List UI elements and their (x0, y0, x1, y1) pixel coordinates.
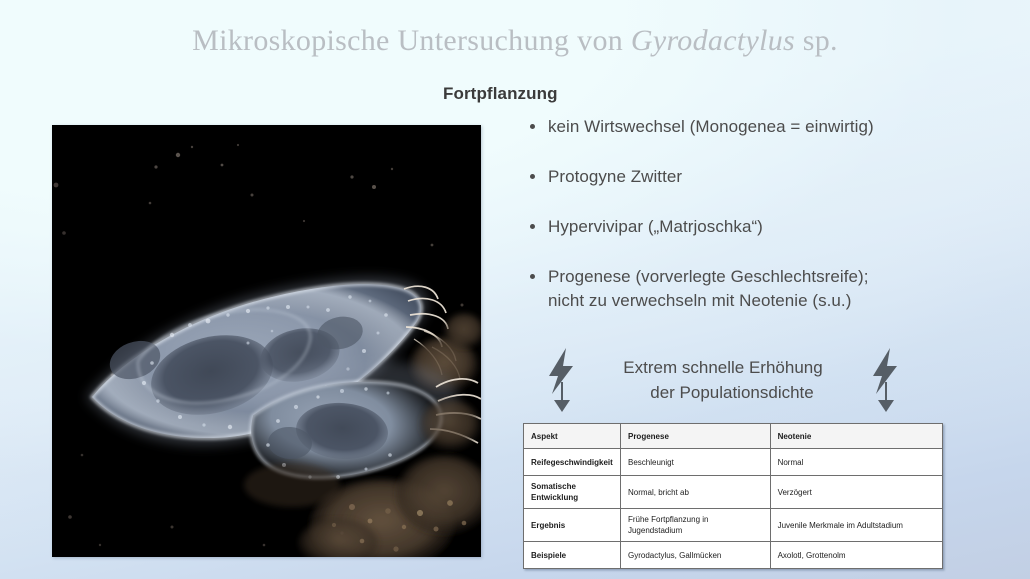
list-item-label: kein Wirtswechsel (Monogenea = einwirtig… (548, 117, 874, 136)
bullet-dot-icon (530, 224, 535, 229)
cell-neotenie: Axolotl, Grottenolm (770, 542, 942, 569)
row-label: Beispiele (524, 542, 621, 569)
column-header-aspekt: Aspekt (524, 424, 621, 449)
cell-progenese: Frühe Fortpflanzung in Jugendstadium (620, 509, 770, 542)
table-row: Somatische Entwicklung Normal, bricht ab… (524, 476, 943, 509)
title-species-name: Gyrodactylus (631, 24, 795, 57)
table-row: Beispiele Gyrodactylus, Gallmücken Axolo… (524, 542, 943, 569)
cell-neotenie: Normal (770, 449, 942, 476)
lightning-bolt-down-arrow-icon (543, 346, 579, 414)
table-header-row: Aspekt Progenese Neotenie (524, 424, 943, 449)
lightning-bolt-down-arrow-icon (867, 346, 903, 414)
emphasis-line-2: der Populationsdichte (581, 380, 865, 405)
list-item-label: Protogyne Zwitter (548, 167, 682, 186)
cell-neotenie: Juvenile Merkmale im Adultstadium (770, 509, 942, 542)
microscopy-figure (52, 125, 481, 557)
list-item-label: Hypervivipar („Matrjoschka“) (548, 217, 763, 236)
cell-progenese: Beschleunigt (620, 449, 770, 476)
row-label: Ergebnis (524, 509, 621, 542)
emphasis-line-1: Extrem schnelle Erhöhung (581, 355, 865, 380)
reproduction-bullet-list: kein Wirtswechsel (Monogenea = einwirtig… (524, 115, 1024, 313)
cell-neotenie: Verzögert (770, 476, 942, 509)
cell-progenese: Normal, bricht ab (620, 476, 770, 509)
row-label: Reifegeschwindigkeit (524, 449, 621, 476)
column-header-progenese: Progenese (620, 424, 770, 449)
slide-root: Mikroskopische Untersuchung von Gyrodact… (0, 0, 1030, 579)
page-title: Mikroskopische Untersuchung von Gyrodact… (0, 24, 1030, 58)
list-item: Hypervivipar („Matrjoschka“) (524, 215, 1024, 239)
cell-progenese: Gyrodactylus, Gallmücken (620, 542, 770, 569)
table-row: Reifegeschwindigkeit Beschleunigt Normal (524, 449, 943, 476)
column-header-neotenie: Neotenie (770, 424, 942, 449)
list-item: Progenese (vorverlegte Geschlechtsreife)… (524, 265, 1024, 313)
bullet-dot-icon (530, 274, 535, 279)
bullet-dot-icon (530, 124, 535, 129)
list-item-label: Progenese (vorverlegte Geschlechtsreife)… (548, 267, 868, 286)
bullet-dot-icon (530, 174, 535, 179)
microscopy-image (52, 125, 481, 557)
title-prefix: Mikroskopische Untersuchung von (192, 24, 631, 57)
title-suffix: sp. (795, 24, 838, 57)
progenese-neotenie-comparison-table: Aspekt Progenese Neotenie Reifegeschwind… (523, 423, 943, 569)
table-row: Ergebnis Frühe Fortpflanzung in Jugendst… (524, 509, 943, 542)
row-label: Somatische Entwicklung (524, 476, 621, 509)
list-item: kein Wirtswechsel (Monogenea = einwirtig… (524, 115, 1024, 139)
emphasis-callout: Extrem schnelle Erhöhung der Populations… (543, 344, 903, 416)
section-heading: Fortpflanzung (443, 84, 558, 104)
emphasis-text: Extrem schnelle Erhöhung der Populations… (579, 355, 867, 405)
list-item: Protogyne Zwitter (524, 165, 1024, 189)
list-item-label-continued: nicht zu verwechseln mit Neotenie (s.u.) (548, 291, 851, 310)
